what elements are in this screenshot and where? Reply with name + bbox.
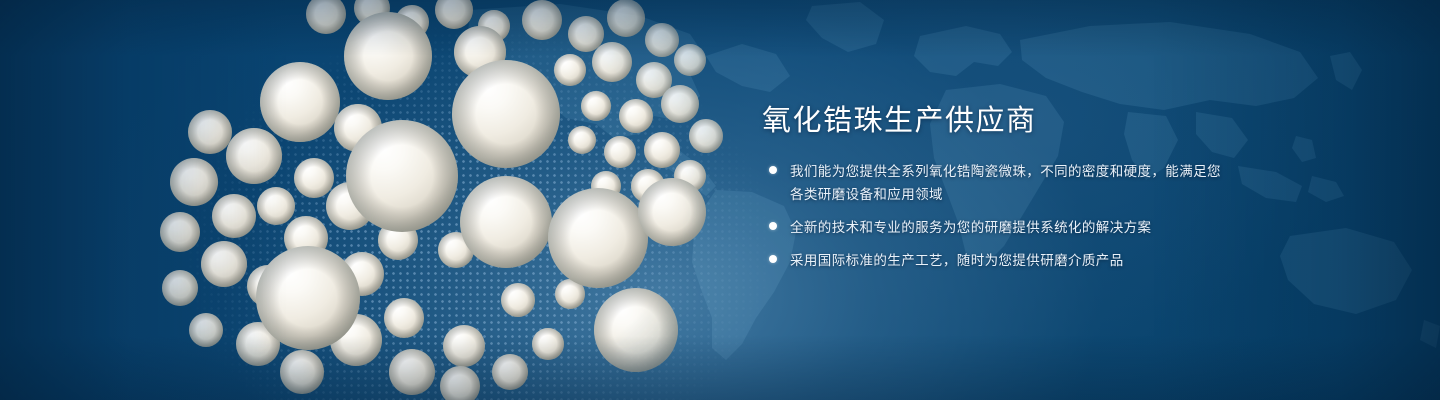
bullet-text-3: 采用国际标准的生产工艺，随时为您提供研磨介质产品 <box>790 249 1232 272</box>
hero-banner: 氧化锆珠生产供应商 我们能为您提供全系列氧化锆陶瓷微珠，不同的密度和硬度，能满足… <box>0 0 1440 400</box>
banner-bullet-list: 我们能为您提供全系列氧化锆陶瓷微珠，不同的密度和硬度，能满足您各类研磨设备和应用… <box>762 160 1232 272</box>
banner-headline: 氧化锆珠生产供应商 <box>762 104 1232 138</box>
bullet-item-2: 全新的技术和专业的服务为您的研磨提供系统化的解决方案 <box>762 216 1232 239</box>
bullet-dot-icon <box>769 255 777 263</box>
bullet-text-2: 全新的技术和专业的服务为您的研磨提供系统化的解决方案 <box>790 216 1232 239</box>
bullet-dot-icon <box>769 166 777 174</box>
bullet-text-1: 我们能为您提供全系列氧化锆陶瓷微珠，不同的密度和硬度，能满足您各类研磨设备和应用… <box>790 160 1232 206</box>
bullet-item-3: 采用国际标准的生产工艺，随时为您提供研磨介质产品 <box>762 249 1232 272</box>
bullet-item-1: 我们能为您提供全系列氧化锆陶瓷微珠，不同的密度和硬度，能满足您各类研磨设备和应用… <box>762 160 1232 206</box>
bullet-dot-icon <box>769 222 777 230</box>
banner-copy: 氧化锆珠生产供应商 我们能为您提供全系列氧化锆陶瓷微珠，不同的密度和硬度，能满足… <box>762 104 1232 272</box>
